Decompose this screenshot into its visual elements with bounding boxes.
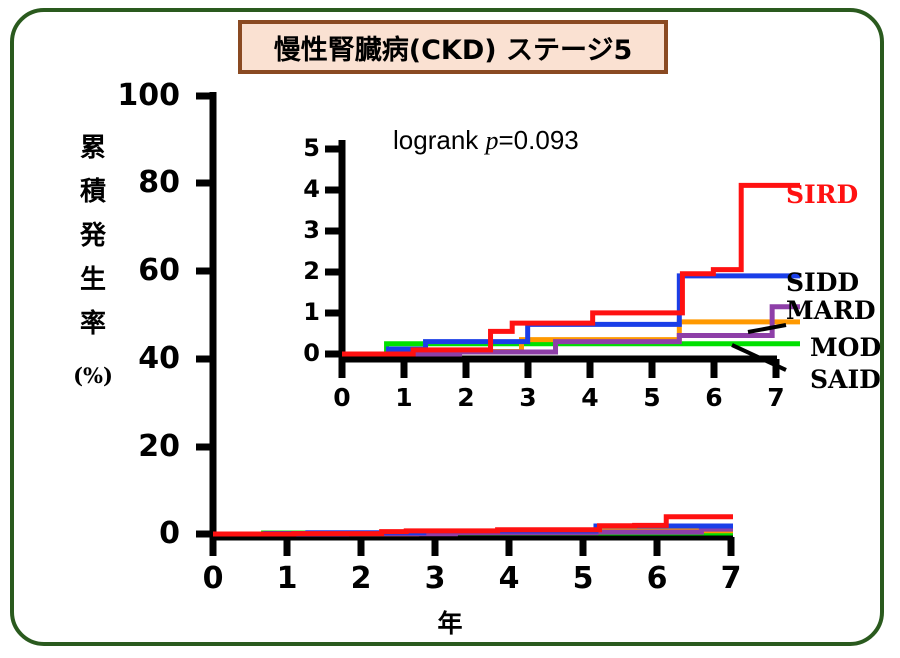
leader-line-said [732,345,786,370]
leader-line-mod [748,325,786,332]
legend-label-said: SAID [810,365,881,394]
legend-leader-lines [0,0,900,658]
legend-label-sidd: SIDD [786,268,859,297]
legend-label-sird: SIRD [786,180,858,209]
chart-root: 慢性腎臓病(CKD) ステージ5 100 80 [0,0,900,658]
legend-label-mard: MARD [786,296,876,325]
legend-label-mod: MOD [810,333,881,362]
